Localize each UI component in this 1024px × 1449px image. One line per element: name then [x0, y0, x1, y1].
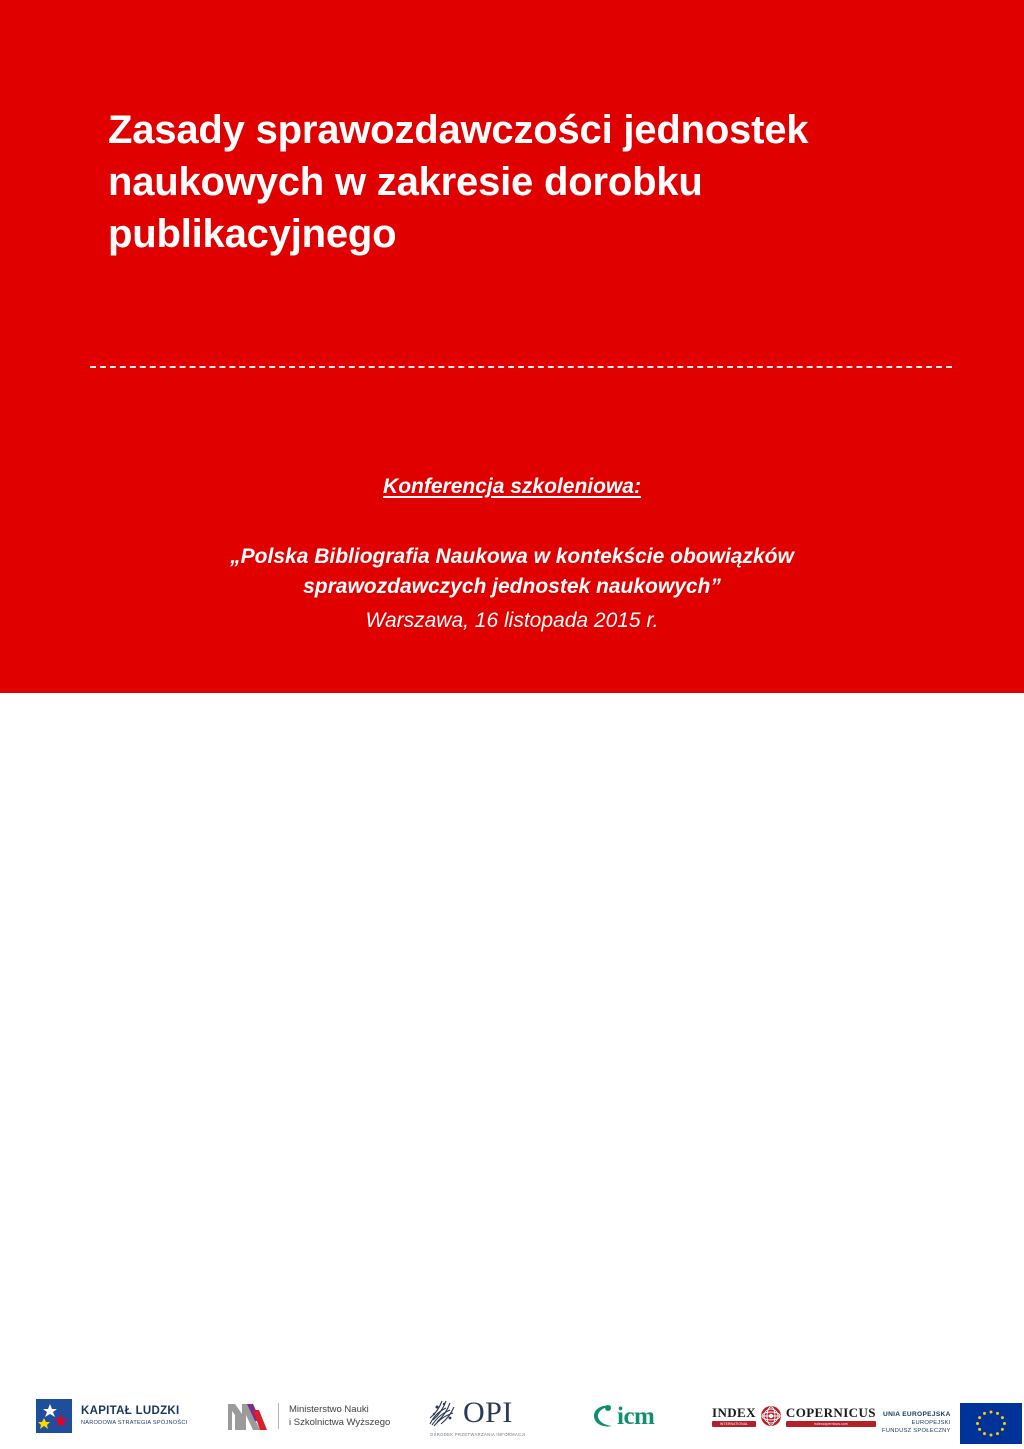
opi-row: OPI — [428, 1398, 513, 1428]
eu-line1: UNIA EUROPEJSKA — [882, 1411, 951, 1420]
kapital-ludzki-name: KAPITAŁ LUDZKI — [81, 1405, 187, 1418]
ministry-text: Ministerstwo Nauki i Szkolnictwa Wyższeg… — [289, 1403, 390, 1430]
icm-swoosh-icon — [592, 1403, 616, 1429]
opi-wordmark: OPI — [463, 1398, 513, 1428]
ministry-m-mark-icon — [228, 1402, 268, 1430]
presentation-slide: Zasady sprawozdawczości jednostek naukow… — [0, 0, 1024, 768]
conference-place-date: Warszawa, 16 listopada 2015 r. — [0, 606, 1024, 636]
eu-line2: EUROPEJSKI — [882, 1420, 951, 1428]
opi-tagline: OŚRODEK PRZETWARZANIA INFORMACJI — [430, 1432, 526, 1437]
logo-opi: OPI OŚRODEK PRZETWARZANIA INFORMACJI — [428, 1398, 526, 1437]
icm-wordmark: icm — [617, 1404, 654, 1429]
logo-index-copernicus: INDEX INTERNATIONAL COPERNICUS ind — [712, 1405, 876, 1427]
logo-icm: icm — [592, 1403, 654, 1429]
opi-glyph-icon — [428, 1398, 458, 1428]
sponsor-logo-bar: KAPITAŁ LUDZKI NARODOWA STRATEGIA SPÓJNO… — [0, 693, 1024, 768]
copernicus-bar: indexcopernicus.com — [786, 1421, 876, 1427]
eu-flag-icon — [960, 1403, 1022, 1444]
copernicus-word: COPERNICUS — [786, 1406, 876, 1419]
eu-stars-emblem-icon — [36, 1399, 72, 1433]
page-title: Zasady sprawozdawczości jednostek naukow… — [108, 104, 868, 260]
ministry-divider — [278, 1403, 279, 1429]
kapital-ludzki-tagline: NARODOWA STRATEGIA SPÓJNOŚCI — [81, 1420, 187, 1426]
index-bar: INTERNATIONAL — [712, 1421, 756, 1427]
logo-kapital-ludzki: KAPITAŁ LUDZKI NARODOWA STRATEGIA SPÓJNO… — [36, 1399, 187, 1433]
dashed-divider — [90, 366, 952, 368]
index-part: INDEX INTERNATIONAL — [712, 1406, 756, 1427]
ministry-line1: Ministerstwo Nauki — [289, 1403, 390, 1416]
subtitle-block: Konferencja szkoleniowa: „Polska Bibliog… — [0, 473, 1024, 636]
logo-ministerstwo-nauki: Ministerstwo Nauki i Szkolnictwa Wyższeg… — [228, 1402, 390, 1430]
conference-title: „Polska Bibliografia Naukowa w kontekści… — [0, 542, 1024, 602]
ministry-line2: i Szkolnictwa Wyższego — [289, 1416, 390, 1429]
kapital-ludzki-text: KAPITAŁ LUDZKI NARODOWA STRATEGIA SPÓJNO… — [81, 1405, 187, 1427]
eu-text: UNIA EUROPEJSKA EUROPEJSKI FUNDUSZ SPOŁE… — [882, 1411, 951, 1436]
copernicus-globe-icon — [760, 1405, 782, 1427]
index-word: INDEX — [712, 1406, 756, 1419]
conference-label: Konferencja szkoleniowa: — [383, 473, 641, 501]
eu-line3: FUNDUSZ SPOŁECZNY — [882, 1428, 951, 1436]
logo-unia-europejska: UNIA EUROPEJSKA EUROPEJSKI FUNDUSZ SPOŁE… — [882, 1403, 1022, 1444]
copernicus-part: COPERNICUS indexcopernicus.com — [786, 1406, 876, 1427]
